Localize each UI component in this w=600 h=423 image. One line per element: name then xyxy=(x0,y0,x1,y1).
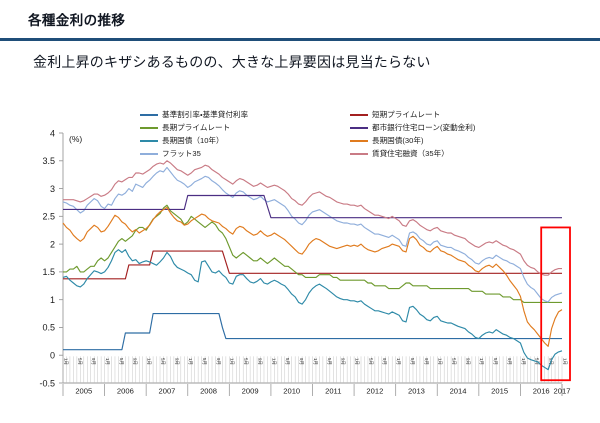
y-axis-tick-label: -0.5 xyxy=(39,378,55,388)
y-axis-tick-label: 1 xyxy=(50,295,55,305)
x-axis-month-label: 5月 xyxy=(451,358,457,365)
x-axis-month-label: 1月 xyxy=(478,358,484,365)
y-axis-tick-label: 1.5 xyxy=(42,267,55,277)
x-axis-month-label: 5月 xyxy=(409,358,415,365)
y-axis-tick-label: 3 xyxy=(50,184,55,194)
x-axis-month-label: 9月 xyxy=(464,358,470,365)
x-axis-year-label: 2005 xyxy=(75,387,92,396)
x-axis-month-label: 1月 xyxy=(520,358,526,365)
series-line-1 xyxy=(63,251,562,279)
x-axis-month-label: 9月 xyxy=(215,358,221,365)
x-axis-month-label: 5月 xyxy=(159,358,165,365)
x-axis-year-label: 2013 xyxy=(408,387,425,396)
y-axis-tick-label: 2.5 xyxy=(42,212,55,222)
x-axis-month-label: 5月 xyxy=(284,358,290,365)
x-axis-month-label: 9月 xyxy=(506,358,512,365)
x-axis-month-label: 9月 xyxy=(256,358,262,365)
x-axis-month-label: 1月 xyxy=(561,358,567,365)
x-axis-year-label: 2010 xyxy=(283,387,300,396)
x-axis-month-label: 5月 xyxy=(326,358,332,365)
slide-page: 各種金利の推移 金利上昇のキザシあるものの、大きな上昇要因は見当たらない 基準割… xyxy=(0,0,600,423)
x-axis-month-label: 1月 xyxy=(187,358,193,365)
legend-item-0: 基準割引率・基準貸付利率 xyxy=(140,108,248,121)
x-axis-month-label: 5月 xyxy=(367,358,373,365)
slide-header: 各種金利の推移 xyxy=(0,0,600,42)
x-axis-month-label: 1月 xyxy=(437,358,443,365)
x-axis-year-label: 2015 xyxy=(491,387,508,396)
legend-label-0: 基準割引率・基準貸付利率 xyxy=(162,108,248,121)
header-divider xyxy=(0,38,600,41)
x-axis-year-label: 2007 xyxy=(159,387,176,396)
x-axis-month-label: 5月 xyxy=(243,358,249,365)
x-axis-year-label: 2016 xyxy=(533,387,550,396)
legend-item-1: 短期プライムレート xyxy=(350,108,475,121)
series-line-5 xyxy=(63,196,562,218)
x-axis-month-label: 9月 xyxy=(132,358,138,365)
subtitle-text: 金利上昇のキザシあるものの、大きな上昇要因は見当たらない xyxy=(33,52,431,72)
y-axis-tick-label: 2 xyxy=(50,239,55,249)
y-axis-tick-label: 3.5 xyxy=(42,156,55,166)
x-axis-month-label: 9月 xyxy=(173,358,179,365)
x-axis-year-label: 2008 xyxy=(200,387,217,396)
x-axis-year-label: 2014 xyxy=(450,387,467,396)
x-axis-month-label: 9月 xyxy=(423,358,429,365)
y-axis-tick-label: 0 xyxy=(50,351,55,361)
y-axis-unit-label: (%) xyxy=(69,134,82,144)
x-axis-month-label: 1月 xyxy=(270,358,276,365)
x-axis-month-label: 9月 xyxy=(340,358,346,365)
legend-label-1: 短期プライムレート xyxy=(372,108,440,121)
legend-swatch-icon-0 xyxy=(140,114,158,116)
y-axis-tick-label: 4 xyxy=(50,128,55,138)
y-axis-tick-label: 0.5 xyxy=(42,323,55,333)
x-axis-month-label: 9月 xyxy=(381,358,387,365)
x-axis-month-label: 5月 xyxy=(118,358,124,365)
x-axis-month-label: 5月 xyxy=(201,358,207,365)
series-line-0 xyxy=(63,314,562,350)
x-axis-month-label: 1月 xyxy=(229,358,235,365)
x-axis-month-label: 1月 xyxy=(353,358,359,365)
x-axis-month-label: 1月 xyxy=(104,358,110,365)
x-axis-month-label: 9月 xyxy=(90,358,96,365)
x-axis-month-label: 5月 xyxy=(76,358,82,365)
interest-rate-line-chart: (%)-0.500.511.522.533.541月5月9月1月5月9月1月5月… xyxy=(0,125,600,423)
x-axis-month-label: 1月 xyxy=(146,358,152,365)
x-axis-year-label: 2006 xyxy=(117,387,134,396)
page-title: 各種金利の推移 xyxy=(28,9,125,29)
x-axis-month-label: 1月 xyxy=(312,358,318,365)
chart-plot-area: (%)-0.500.511.522.533.541月5月9月1月5月9月1月5月… xyxy=(0,125,600,423)
legend-swatch-icon-1 xyxy=(350,114,368,116)
x-axis-year-label: 2009 xyxy=(242,387,259,396)
x-axis-month-label: 9月 xyxy=(298,358,304,365)
series-line-4 xyxy=(63,167,562,301)
x-axis-year-label: 2012 xyxy=(366,387,383,396)
series-line-3 xyxy=(63,250,562,370)
x-axis-month-label: 1月 xyxy=(395,358,401,365)
x-axis-year-label: 2011 xyxy=(325,387,341,396)
x-axis-month-label: 5月 xyxy=(492,358,498,365)
